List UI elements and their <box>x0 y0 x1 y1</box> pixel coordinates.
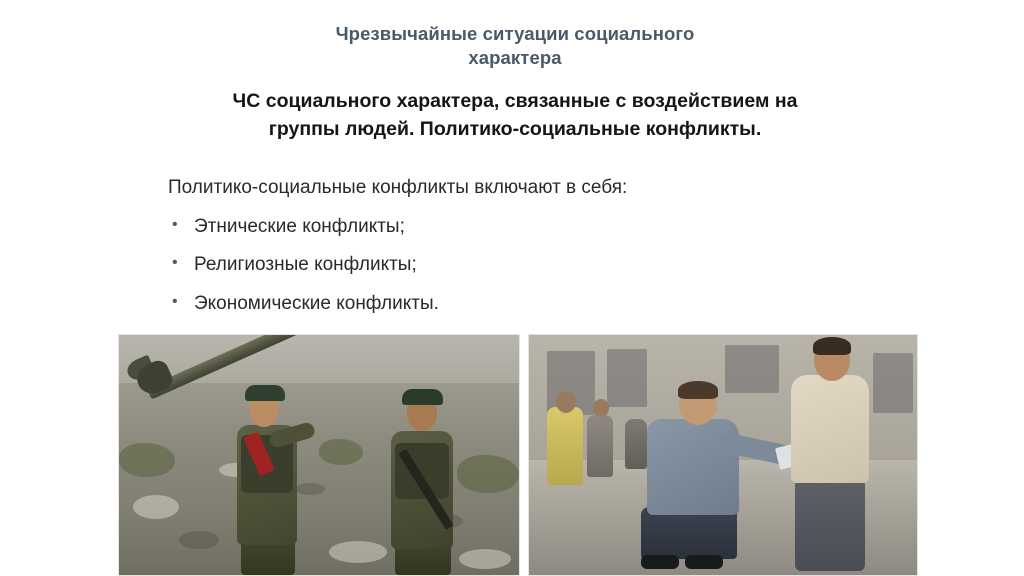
pedestrian-figure <box>547 407 583 485</box>
kneeling-man-hair <box>678 381 718 399</box>
pedestrian-head <box>556 391 576 413</box>
list-item: • Экономические конфликты. <box>168 292 868 317</box>
window-shape <box>873 353 913 413</box>
slide-canvas: Чрезвычайные ситуации социального характ… <box>0 0 1024 574</box>
list-item: • Религиозные конфликты; <box>168 253 868 278</box>
kneeling-man-shoe <box>641 555 679 569</box>
window-shape <box>725 345 779 393</box>
subtitle-line-2: группы людей. Политико-социальные конфли… <box>150 116 880 144</box>
photo-street-canvas <box>529 335 917 575</box>
bush-shape <box>319 439 363 465</box>
kneeling-man-shoe <box>685 555 723 569</box>
standing-man-hair <box>813 337 851 355</box>
rock-shape <box>133 495 179 519</box>
rock-shape <box>179 531 219 549</box>
standing-man-legs <box>795 479 865 571</box>
photo-soldiers-canvas <box>119 335 519 575</box>
subtitle-line-1: ЧС социального характера, связанные с во… <box>150 88 880 116</box>
page-title: Чрезвычайные ситуации социального характ… <box>230 22 800 70</box>
rock-shape <box>295 483 325 495</box>
bullet-dot-icon: • <box>172 292 178 313</box>
rock-shape <box>329 541 387 563</box>
bullet-list: • Этнические конфликты; • Религиозные ко… <box>168 215 868 317</box>
bullet-dot-icon: • <box>172 215 178 236</box>
list-item: • Этнические конфликты; <box>168 215 868 240</box>
body-intro-text: Политико-социальные конфликты включают в… <box>168 176 868 201</box>
rock-shape <box>459 549 511 569</box>
title-line-2: характера <box>230 46 800 70</box>
pedestrian-figure <box>587 415 613 477</box>
title-line-1: Чрезвычайные ситуации социального <box>230 22 800 46</box>
window-shape <box>607 349 647 407</box>
photo-soldiers <box>118 334 520 576</box>
photo-street <box>528 334 918 576</box>
list-item-label: Религиозные конфликты; <box>194 254 417 275</box>
bullet-dot-icon: • <box>172 253 178 274</box>
list-item-label: Экономические конфликты. <box>194 293 439 314</box>
list-item-label: Этнические конфликты; <box>194 216 405 237</box>
standing-man-shirt <box>791 375 869 483</box>
bush-shape <box>457 455 519 493</box>
bush-shape <box>119 443 175 477</box>
slide-subtitle: ЧС социального характера, связанные с во… <box>150 88 880 143</box>
beret-icon <box>245 385 285 401</box>
pedestrian-figure <box>625 419 647 469</box>
pedestrian-head <box>593 399 609 417</box>
slide-body: Политико-социальные конфликты включают в… <box>168 176 868 331</box>
beret-icon <box>402 389 443 405</box>
